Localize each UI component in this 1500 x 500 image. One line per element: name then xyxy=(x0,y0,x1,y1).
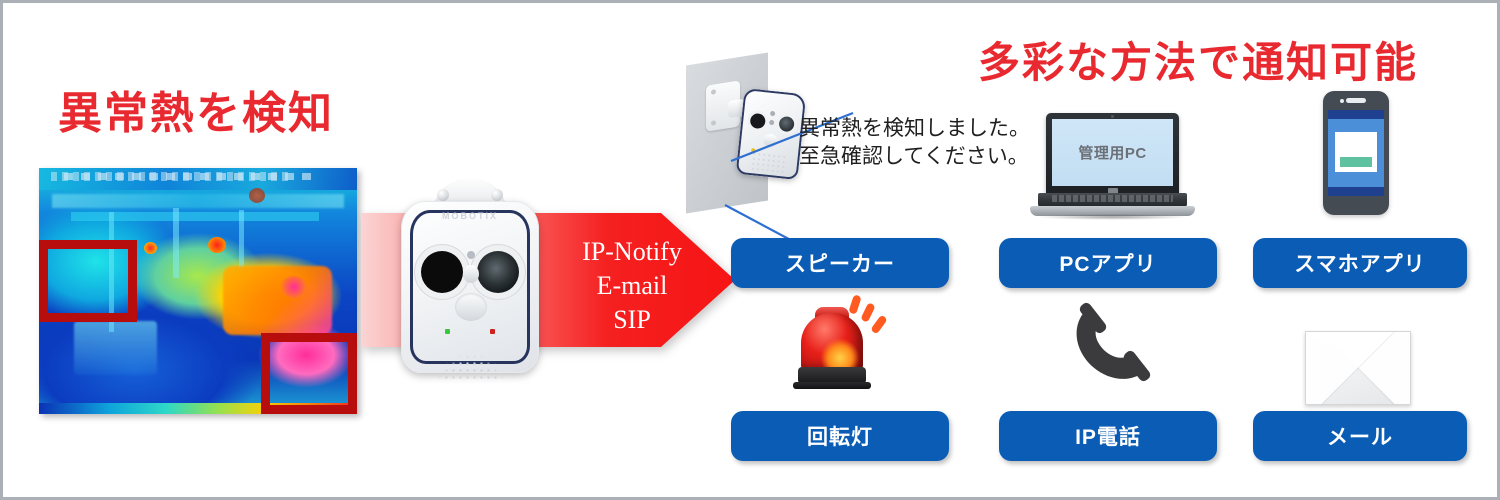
alert-message-line-2: 至急確認してください。 xyxy=(799,143,1030,171)
button-rotating-light[interactable]: 回転灯 xyxy=(731,411,949,461)
button-mail[interactable]: メール xyxy=(1253,411,1467,461)
mail-envelope-icon xyxy=(1305,331,1411,405)
smartphone-icon xyxy=(1323,91,1389,215)
thermal-bench xyxy=(74,321,157,375)
laptop-webcam-icon xyxy=(1111,115,1114,118)
laptop-screen-label: 管理用PC xyxy=(1078,142,1146,163)
phone-notification-accent xyxy=(1340,157,1372,167)
protocol-email: E-mail xyxy=(557,269,707,303)
button-pc-app[interactable]: PCアプリ xyxy=(999,238,1217,288)
camera-pir-sensor-icon xyxy=(455,293,487,321)
beacon-ray-3 xyxy=(870,314,888,334)
protocol-sip: SIP xyxy=(557,303,707,337)
laptop-device: 管理用PC xyxy=(1030,113,1195,221)
phone-earpiece xyxy=(1346,98,1366,103)
thermal-pole-3 xyxy=(239,210,244,270)
arrow-protocol-list: IP-Notify E-mail SIP xyxy=(557,235,707,337)
camera-speaker-grille xyxy=(429,339,513,381)
phone-front-camera-icon xyxy=(1340,99,1344,103)
protocol-ip-notify: IP-Notify xyxy=(557,235,707,269)
button-smartphone-app[interactable]: スマホアプリ xyxy=(1253,238,1467,288)
detection-box-2 xyxy=(261,333,357,414)
camera-lens-right-icon xyxy=(477,251,519,293)
laptop-screen: 管理用PC xyxy=(1052,119,1173,186)
thermal-hotspot-1 xyxy=(208,237,226,253)
wall-camera-lens-left-icon xyxy=(750,113,766,129)
envelope-fold xyxy=(1306,332,1410,404)
wall-camera-pir-icon xyxy=(763,133,778,147)
alert-message: 異常熱を検知しました。 至急確認してください。 xyxy=(799,115,1030,171)
wall-camera-grille xyxy=(750,151,788,175)
wall-camera-mic-icon xyxy=(770,111,775,116)
phone-status-bar xyxy=(1328,110,1384,119)
wall-camera-mic2-icon xyxy=(769,120,774,125)
camera-led-green xyxy=(445,329,450,334)
rotating-beacon-icon xyxy=(793,299,879,391)
camera-microphone-icon xyxy=(467,251,475,259)
camera-lens-left-icon xyxy=(421,251,463,293)
thermal-beam xyxy=(52,194,345,208)
beacon-ray-2 xyxy=(860,302,876,323)
thermal-image xyxy=(39,168,357,414)
mobotix-camera: MOBOTIX xyxy=(399,179,541,373)
laptop-shadow xyxy=(1036,214,1189,220)
button-speaker[interactable]: スピーカー xyxy=(731,238,949,288)
thermal-warm-dot xyxy=(249,188,265,203)
camera-sensor-icon xyxy=(463,265,479,283)
camera-body: MOBOTIX xyxy=(401,201,539,373)
phone-notification-card xyxy=(1335,132,1377,172)
thermal-hotspot-3 xyxy=(281,276,307,298)
beacon-ray-1 xyxy=(848,294,861,315)
page-title-right: 多彩な方法で通知可能 xyxy=(978,29,1418,90)
laptop-keys xyxy=(1052,195,1173,202)
phone-nav-bar xyxy=(1328,187,1384,196)
detection-box-1 xyxy=(39,240,137,322)
beacon-foot xyxy=(793,382,871,389)
thermal-hotspot-2 xyxy=(144,242,157,254)
thermal-pole-2 xyxy=(173,208,179,278)
alert-message-line-1: 異常熱を検知しました。 xyxy=(799,115,1030,143)
wall-mounted-camera xyxy=(686,55,816,217)
camera-led-red xyxy=(490,329,495,334)
thermal-hot-machine xyxy=(223,266,331,335)
page-title-left: 異常熱を検知 xyxy=(58,77,334,141)
telephone-handset-icon xyxy=(1065,299,1161,387)
beacon-dome xyxy=(801,313,863,371)
button-ip-phone[interactable]: IP電話 xyxy=(999,411,1217,461)
phone-screen xyxy=(1328,110,1384,196)
thermal-rail xyxy=(64,173,318,180)
wall-camera-lens-right-icon xyxy=(778,116,794,132)
wall-camera-body xyxy=(736,88,807,180)
slide-canvas: 異常熱を検知 多彩な方法で通知可能 IP-Notify E-mail SIP xyxy=(0,0,1500,500)
camera-brand-label: MOBOTIX xyxy=(401,211,539,221)
laptop-lid: 管理用PC xyxy=(1046,113,1179,195)
